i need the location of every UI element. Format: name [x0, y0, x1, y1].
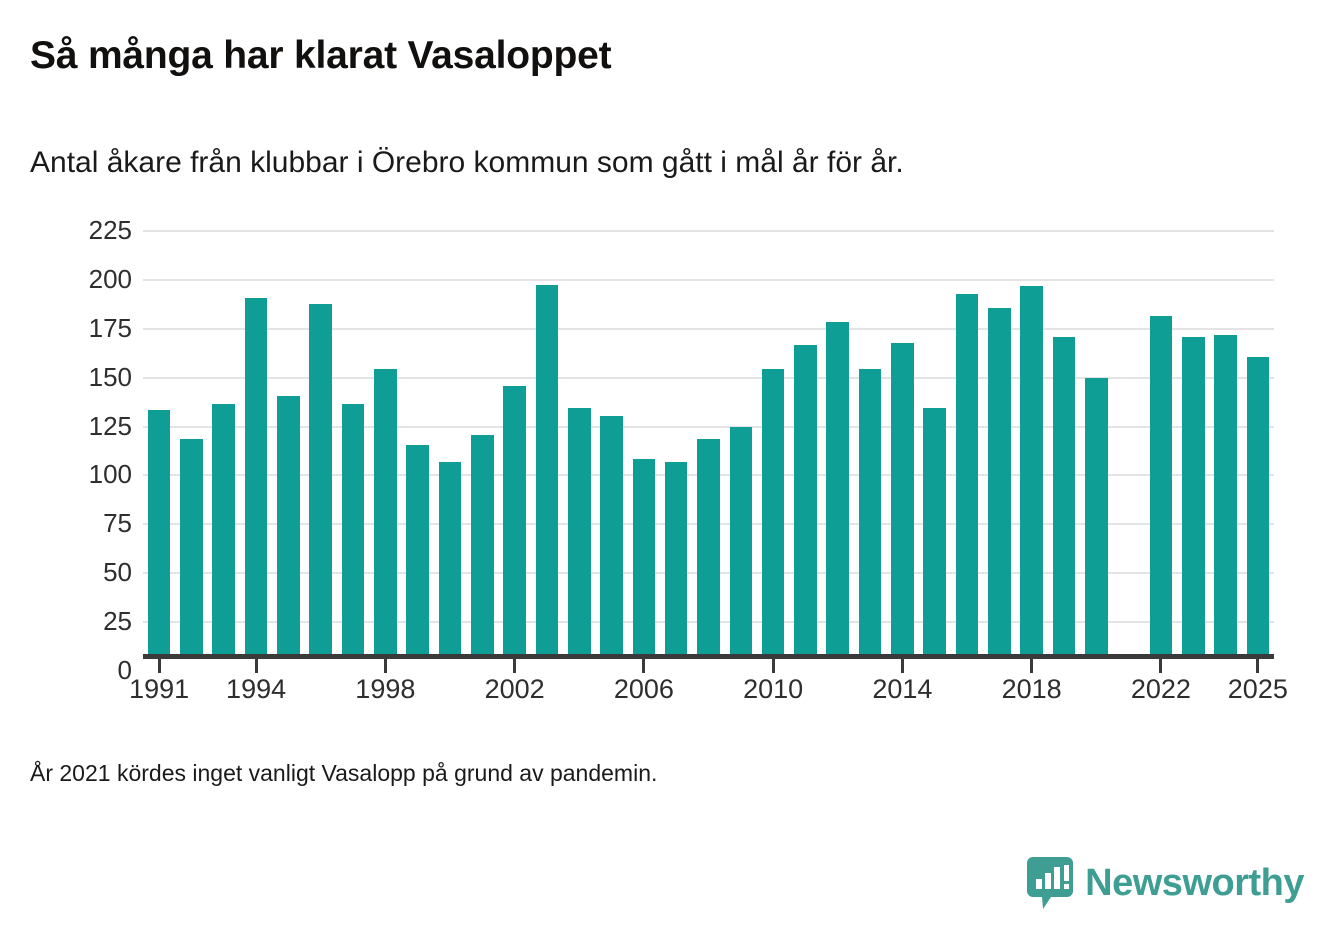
bar-series	[143, 218, 1274, 658]
x-axis-ticks	[143, 659, 1274, 673]
bar-2010[interactable]	[762, 369, 785, 658]
y-axis: 0255075100125150175200225	[40, 218, 132, 670]
bar-2001[interactable]	[471, 435, 494, 658]
bar-chart-bubble-icon	[1027, 857, 1073, 909]
x-tick-label: 2006	[614, 674, 674, 705]
brand-name: Newsworthy	[1085, 864, 1304, 902]
x-tick-label: 2025	[1228, 674, 1288, 705]
bar-1996[interactable]	[309, 304, 332, 658]
x-tick	[513, 659, 516, 673]
x-tick-label: 2002	[485, 674, 545, 705]
bar-2024[interactable]	[1214, 335, 1237, 658]
y-tick-label: 75	[103, 510, 132, 536]
x-tick	[158, 659, 161, 673]
x-tick	[642, 659, 645, 673]
bar-2008[interactable]	[697, 439, 720, 658]
bar-2019[interactable]	[1053, 337, 1076, 658]
x-tick-label: 1991	[129, 674, 189, 705]
bar-1999[interactable]	[406, 445, 429, 658]
bar-2016[interactable]	[956, 294, 979, 658]
bar-2025[interactable]	[1247, 357, 1270, 658]
y-tick-label: 25	[103, 608, 132, 634]
x-tick	[255, 659, 258, 673]
bar-2018[interactable]	[1020, 286, 1043, 658]
bar-2013[interactable]	[859, 369, 882, 658]
bar-2014[interactable]	[891, 343, 914, 658]
x-tick-label: 2022	[1131, 674, 1191, 705]
bar-2004[interactable]	[568, 408, 591, 658]
bar-1995[interactable]	[277, 396, 300, 658]
y-tick-label: 175	[89, 315, 132, 341]
y-tick-label: 125	[89, 413, 132, 439]
bar-2011[interactable]	[794, 345, 817, 658]
y-tick-label: 200	[89, 266, 132, 292]
bar-2009[interactable]	[730, 427, 753, 658]
bar-2000[interactable]	[439, 462, 462, 658]
bar-2003[interactable]	[536, 285, 559, 659]
y-tick-label: 150	[89, 364, 132, 390]
bar-2007[interactable]	[665, 462, 688, 658]
x-tick	[1256, 659, 1259, 673]
bar-2015[interactable]	[923, 408, 946, 658]
bar-2005[interactable]	[600, 416, 623, 658]
chart-plot-area: 0255075100125150175200225 19911994199820…	[0, 0, 1340, 720]
chart-page: Så många har klarat Vasaloppet Antal åka…	[0, 0, 1340, 940]
y-tick-label: 100	[89, 461, 132, 487]
bar-2012[interactable]	[826, 322, 849, 658]
bar-1994[interactable]	[245, 298, 268, 658]
bar-2022[interactable]	[1150, 316, 1173, 658]
x-tick-label: 2014	[872, 674, 932, 705]
bar-1997[interactable]	[342, 404, 365, 658]
chart-footnote: År 2021 kördes inget vanligt Vasalopp på…	[30, 760, 657, 787]
x-axis-labels: 1991199419982002200620102014201820222025	[143, 674, 1274, 714]
x-tick	[901, 659, 904, 673]
bar-2023[interactable]	[1182, 337, 1205, 658]
bar-2002[interactable]	[503, 386, 526, 658]
bar-1992[interactable]	[180, 439, 203, 658]
bar-2020[interactable]	[1085, 378, 1108, 658]
newsworthy-logo: Newsworthy	[1027, 857, 1304, 909]
x-tick	[1159, 659, 1162, 673]
y-tick-label: 225	[89, 217, 132, 243]
x-tick	[772, 659, 775, 673]
x-tick-label: 2018	[1002, 674, 1062, 705]
y-tick-label: 50	[103, 559, 132, 585]
bar-2006[interactable]	[633, 459, 656, 658]
x-tick	[1030, 659, 1033, 673]
x-tick-label: 2010	[743, 674, 803, 705]
bar-1993[interactable]	[212, 404, 235, 658]
x-tick	[384, 659, 387, 673]
bar-1998[interactable]	[374, 369, 397, 658]
x-tick-label: 1998	[355, 674, 415, 705]
x-tick-label: 1994	[226, 674, 286, 705]
bar-1991[interactable]	[148, 410, 171, 658]
bar-2017[interactable]	[988, 308, 1011, 658]
